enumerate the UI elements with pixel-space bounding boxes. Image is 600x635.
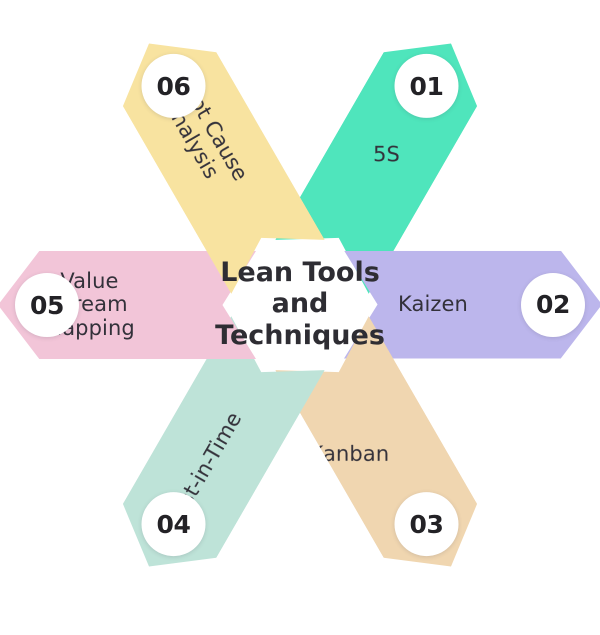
infographic-canvas: 5S 01 Kaizen 02 Kanban 03	[0, 0, 600, 609]
step-badge-04: 04	[142, 492, 206, 556]
step-badge-02: 02	[521, 273, 585, 337]
step-number-06: 06	[157, 71, 191, 100]
step-badge-03: 03	[395, 492, 459, 556]
step-label-01: 5S	[373, 143, 400, 167]
step-number-05: 05	[30, 290, 64, 319]
step-number-01: 01	[410, 71, 444, 100]
step-badge-06: 06	[142, 53, 206, 117]
step-label-02: Kaizen	[398, 293, 468, 317]
step-badge-05: 05	[15, 273, 79, 337]
step-number-03: 03	[410, 509, 444, 538]
step-number-04: 04	[157, 509, 191, 538]
step-badge-01: 01	[395, 53, 459, 117]
step-number-02: 02	[536, 290, 570, 319]
step-label-03: Kanban	[310, 443, 390, 467]
